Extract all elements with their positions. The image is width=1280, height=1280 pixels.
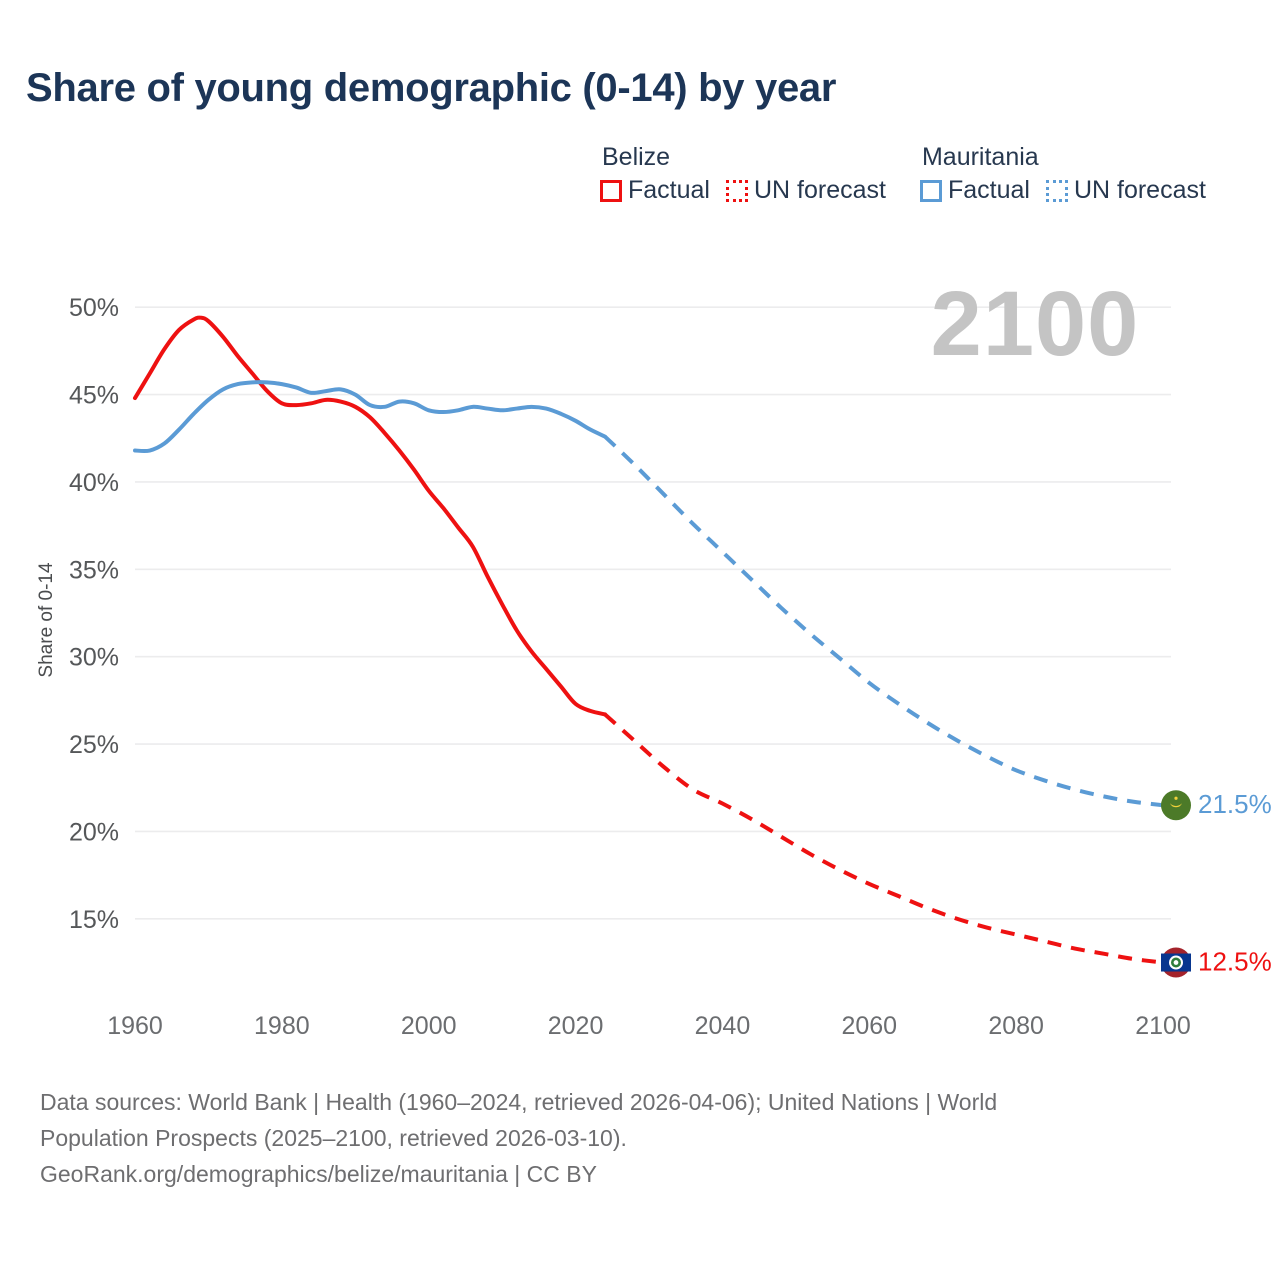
legend-entry-mauritania-forecast[interactable]: UN forecast	[1046, 176, 1206, 205]
legend-swatch-solid-red-icon	[600, 180, 622, 202]
x-tick-label: 2000	[401, 1012, 457, 1040]
x-axis-ticks: 19601980200020202040206020802100	[107, 1012, 1191, 1040]
footer-sources: Data sources: World Bank | Health (1960–…	[40, 1084, 1240, 1192]
y-axis-ticks: 15%20%25%30%35%40%45%50%	[69, 294, 119, 934]
legend-group-mauritania: Mauritania Factual UN forecast	[920, 142, 1206, 205]
mauritania-endpoint[interactable]: 21.5%	[1161, 789, 1272, 820]
y-tick-label: 45%	[69, 382, 119, 410]
footer-line-2: Population Prospects (2025–2100, retriev…	[40, 1120, 1240, 1156]
grid-lines	[135, 307, 1171, 919]
y-tick-label: 25%	[69, 731, 119, 759]
legend-entry-belize-factual[interactable]: Factual	[600, 176, 710, 205]
belize-endpoint-label: 12.5%	[1198, 946, 1272, 976]
legend-entry-mauritania-factual[interactable]: Factual	[920, 176, 1030, 205]
legend-entries-belize: Factual UN forecast	[600, 176, 886, 205]
legend-label-mauritania-factual: Factual	[948, 176, 1030, 205]
legend-entry-belize-forecast[interactable]: UN forecast	[726, 176, 886, 205]
series-line-belize-factual	[135, 318, 605, 715]
x-tick-label: 1960	[107, 1012, 163, 1040]
legend-label-belize-factual: Factual	[628, 176, 710, 205]
mauritania-endpoint-label: 21.5%	[1198, 789, 1272, 819]
series-line-mauritania-forecast	[605, 437, 1163, 806]
year-watermark: 2100	[931, 273, 1140, 375]
series-lines	[135, 318, 1163, 963]
y-tick-label: 35%	[69, 556, 119, 584]
legend-country-mauritania: Mauritania	[920, 142, 1206, 172]
series-line-belize-forecast	[605, 714, 1163, 962]
page-title: Share of young demographic (0-14) by yea…	[26, 66, 836, 111]
legend-label-belize-forecast: UN forecast	[754, 176, 886, 205]
footer-line-1: Data sources: World Bank | Health (1960–…	[40, 1084, 1240, 1120]
x-tick-label: 2100	[1135, 1012, 1191, 1040]
x-tick-label: 2020	[548, 1012, 604, 1040]
footer-line-3: GeoRank.org/demographics/belize/mauritan…	[40, 1156, 1240, 1192]
chart-legend: Belize Factual UN forecast Mauritania Fa…	[600, 142, 1206, 205]
y-tick-label: 20%	[69, 818, 119, 846]
x-tick-label: 2060	[841, 1012, 897, 1040]
legend-swatch-dotted-blue-icon	[1046, 180, 1068, 202]
belize-flag-center	[1174, 960, 1179, 965]
y-tick-label: 15%	[69, 906, 119, 934]
legend-group-belize: Belize Factual UN forecast	[600, 142, 886, 205]
star-icon	[1174, 797, 1177, 800]
legend-label-mauritania-forecast: UN forecast	[1074, 176, 1206, 205]
chart-page: Share of young demographic (0-14) by yea…	[0, 0, 1280, 1280]
x-tick-label: 1980	[254, 1012, 310, 1040]
x-tick-label: 2040	[695, 1012, 751, 1040]
plot-area: 15%20%25%30%35%40%45%50% 196019802000202…	[0, 250, 1280, 1060]
y-tick-label: 50%	[69, 294, 119, 322]
legend-entries-mauritania: Factual UN forecast	[920, 176, 1206, 205]
y-tick-label: 30%	[69, 644, 119, 672]
x-tick-label: 2080	[988, 1012, 1044, 1040]
mauritania-flag-icon	[1161, 790, 1191, 820]
legend-country-belize: Belize	[600, 142, 886, 172]
legend-swatch-dotted-red-icon	[726, 180, 748, 202]
y-tick-label: 40%	[69, 469, 119, 497]
series-endpoints: 21.5%12.5%	[1161, 789, 1272, 977]
belize-endpoint[interactable]: 12.5%	[1161, 946, 1272, 977]
legend-swatch-solid-blue-icon	[920, 180, 942, 202]
line-chart: 15%20%25%30%35%40%45%50% 196019802000202…	[0, 250, 1280, 1060]
y-axis-title: Share of 0-14	[36, 562, 57, 678]
